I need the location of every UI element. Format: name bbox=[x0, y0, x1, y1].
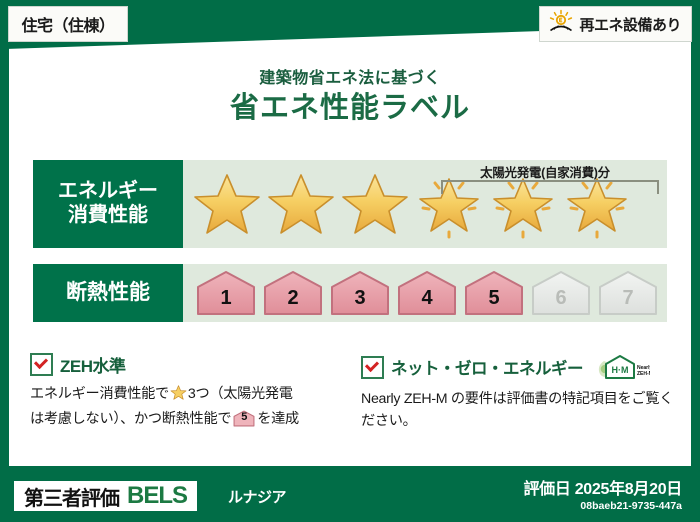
building-type-label: 住宅（住棟） bbox=[21, 12, 114, 36]
insulation-level-4: 4 bbox=[396, 270, 458, 316]
insulation-level-4-value: 4 bbox=[421, 287, 432, 316]
label-title: 省エネ性能ラベル bbox=[0, 84, 700, 126]
property-name: ルナジア bbox=[228, 486, 286, 507]
note-zeh-header: ZEH水準 bbox=[30, 352, 347, 377]
note-zeh-standard: ZEH水準 エネルギー消費性能で3つ（太陽光発電は考慮しない）、かつ断熱性能で5… bbox=[30, 352, 347, 432]
inline-star-icon bbox=[170, 384, 187, 408]
evaluation-date: 評価日 2025年8月20日 bbox=[523, 475, 682, 499]
solar-portion-note: 太陽光発電(自家消費)分 bbox=[423, 162, 667, 181]
energy-performance-row: エネルギー 消費性能 太陽光発電(自家消費)分 bbox=[33, 160, 667, 248]
star-filled-3 bbox=[339, 168, 411, 240]
energy-header-line2: 消費性能 bbox=[68, 204, 148, 228]
insulation-performance-body: 1 2 3 4 bbox=[183, 264, 667, 322]
note-zeh-text-1: エネルギー消費性能で bbox=[30, 386, 169, 402]
renewable-equipment-badge: 再エネ設備あり bbox=[539, 6, 692, 42]
note-nze-header: ネット・ゼロ・エネルギー H·M Nearly ZEH-M bbox=[361, 352, 678, 382]
insulation-level-3: 3 bbox=[329, 270, 391, 316]
note-zeh-title: ZEH水準 bbox=[60, 352, 126, 377]
insulation-level-7-value: 7 bbox=[622, 287, 633, 316]
energy-performance-header: エネルギー 消費性能 bbox=[33, 160, 183, 248]
third-party-evaluation-badge: 第三者評価 BELS bbox=[14, 481, 197, 511]
building-type-tag: 住宅（住棟） bbox=[8, 6, 128, 42]
insulation-performance-row: 断熱性能 1 2 bbox=[33, 264, 667, 322]
insulation-level-3-value: 3 bbox=[354, 287, 365, 316]
insulation-level-5-value: 5 bbox=[488, 287, 499, 316]
insulation-level-1-value: 1 bbox=[220, 287, 231, 316]
note-net-zero-energy: ネット・ゼロ・エネルギー H·M Nearly ZEH-M Nearly ZEH… bbox=[361, 352, 678, 432]
check-icon-zeh bbox=[30, 353, 53, 376]
notes-section: ZEH水準 エネルギー消費性能で3つ（太陽光発電は考慮しない）、かつ断熱性能で5… bbox=[30, 352, 678, 432]
energy-header-line1: エネルギー bbox=[58, 180, 158, 204]
insulation-level-2-value: 2 bbox=[287, 287, 298, 316]
inline-house-badge-icon: 5 bbox=[233, 410, 255, 427]
third-party-label: 第三者評価 bbox=[24, 482, 119, 511]
renewable-badge-label: 再エネ設備あり bbox=[579, 14, 681, 35]
bels-logo-text: BELS bbox=[127, 482, 187, 510]
insulation-level-7: 7 bbox=[597, 270, 659, 316]
check-icon-nze bbox=[361, 356, 384, 379]
nearly-zeh-m-logo: H·M Nearly ZEH-M bbox=[594, 352, 650, 382]
insulation-level-group: 1 2 3 4 bbox=[183, 270, 659, 316]
energy-label-root: 住宅（住棟） bbox=[0, 0, 700, 522]
solar-portion-bracket bbox=[441, 180, 659, 194]
insulation-performance-header: 断熱性能 bbox=[33, 264, 183, 322]
energy-performance-body: 太陽光発電(自家消費)分 bbox=[183, 160, 667, 248]
note-nze-body: Nearly ZEH-M の要件は評価書の特記項目をご覧ください。 bbox=[361, 388, 678, 432]
insulation-level-6: 6 bbox=[530, 270, 592, 316]
note-zeh-text-4: を達成 bbox=[257, 411, 299, 427]
insulation-level-5: 5 bbox=[463, 270, 525, 316]
insulation-level-2: 2 bbox=[262, 270, 324, 316]
note-zeh-text-3: は考慮しない）、かつ断熱性能で bbox=[30, 411, 231, 427]
sun-icon bbox=[548, 9, 574, 40]
svg-text:ZEH-M: ZEH-M bbox=[637, 371, 650, 377]
note-zeh-body: エネルギー消費性能で3つ（太陽光発電は考慮しない）、かつ断熱性能で5を達成 bbox=[30, 383, 347, 430]
note-zeh-text-2: 3つ（太陽光発電 bbox=[188, 386, 293, 402]
note-nze-title: ネット・ゼロ・エネルギー bbox=[391, 355, 583, 379]
label-footer: 第三者評価 BELS ルナジア 評価日 2025年8月20日 08baeb21-… bbox=[0, 464, 700, 522]
inline-house-badge-value: 5 bbox=[233, 409, 255, 426]
insulation-level-1: 1 bbox=[195, 270, 257, 316]
insulation-header-label: 断熱性能 bbox=[66, 281, 150, 306]
svg-text:H·M: H·M bbox=[612, 365, 629, 375]
footer-right-block: 評価日 2025年8月20日 08baeb21-9735-447a bbox=[523, 475, 682, 512]
evaluation-id: 08baeb21-9735-447a bbox=[523, 500, 682, 512]
star-filled-2 bbox=[265, 168, 337, 240]
star-filled-1 bbox=[191, 168, 263, 240]
insulation-level-6-value: 6 bbox=[555, 287, 566, 316]
